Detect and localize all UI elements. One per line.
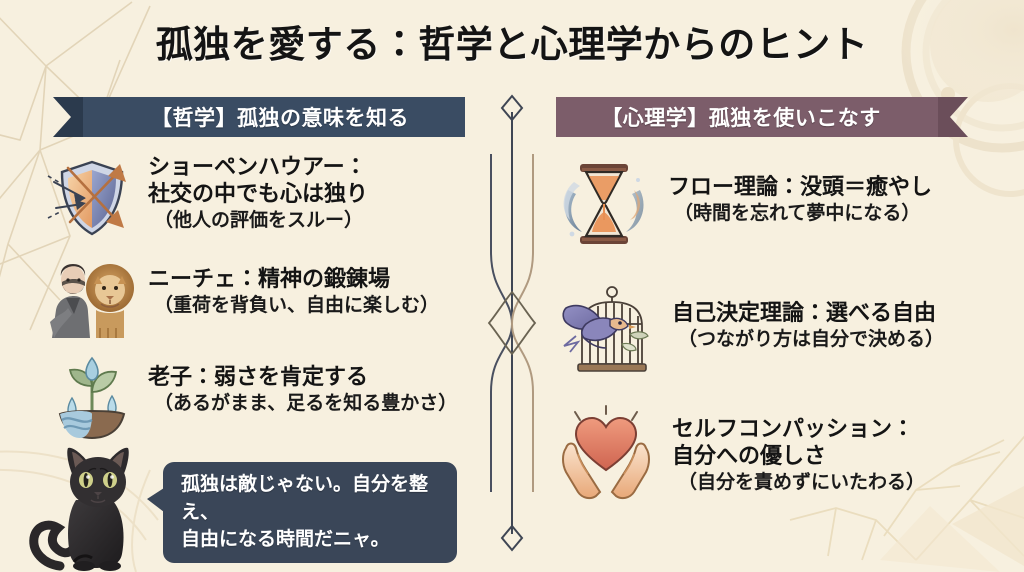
entry-subtext: （あるがまま、足るを知る豊かさ）	[148, 392, 457, 416]
sprout-water-icon	[46, 352, 138, 444]
list-item-laozi: 老子：弱さを肯定する （あるがまま、足るを知る豊かさ）	[46, 352, 476, 444]
entry-text-nietzsche: ニーチェ：精神の鍛錬場 （重荷を背負い、自由に楽しむ）	[148, 252, 439, 318]
entry-text-flow-theory: フロー理論：没頭＝癒やし （時間を忘れて夢中になる）	[668, 156, 932, 226]
banner-philosophy-label: 【哲学】孤独の意味を知る	[109, 102, 409, 132]
entry-heading: フロー理論：没頭＝癒やし	[668, 174, 932, 201]
ornate-vertical-divider-icon	[479, 92, 545, 554]
entry-text-schopenhauer: ショーペンハウアー： 社交の中でも心は独り （他人の評価をスルー）	[148, 152, 368, 232]
column-philosophy: ショーペンハウアー： 社交の中でも心は独り （他人の評価をスルー）	[46, 152, 476, 452]
banner-philosophy: 【哲学】孤独の意味を知る	[53, 97, 465, 137]
list-item-self-compassion: セルフコンパッション： 自分への優しさ （自分を責めずにいたわる）	[556, 404, 1006, 504]
hourglass-icon	[556, 156, 652, 252]
banner-psychology: 【心理学】孤独を使いこなす	[556, 97, 968, 137]
entry-subtext: （時間を忘れて夢中になる）	[668, 202, 932, 226]
cat-speech-bubble: 孤独は敵じゃない。自分を整え、 自由になる時間だニャ。	[163, 462, 457, 563]
entry-heading: ショーペンハウアー： 社交の中でも心は独り	[148, 154, 368, 208]
shield-arrows-icon	[46, 152, 138, 244]
black-cat-icon	[24, 438, 164, 572]
column-psychology: フロー理論：没頭＝癒やし （時間を忘れて夢中になる）	[556, 156, 1006, 530]
entry-heading: セルフコンパッション： 自分への優しさ	[672, 416, 925, 470]
heart-hands-icon	[556, 404, 656, 504]
page-title: 孤独を愛する：哲学と心理学からのヒント	[0, 14, 1024, 68]
entry-heading: 自己決定理論：選べる自由	[672, 300, 944, 327]
entry-heading: 老子：弱さを肯定する	[148, 364, 457, 391]
entry-subtext: （重荷を背負い、自由に楽しむ）	[148, 294, 439, 318]
entry-text-self-compassion: セルフコンパッション： 自分への優しさ （自分を責めずにいたわる）	[672, 404, 925, 494]
list-item-self-determination: 自己決定理論：選べる自由 （つながり方は自分で決める）	[556, 278, 1006, 378]
nietzsche-lion-icon	[46, 252, 138, 344]
list-item-nietzsche: ニーチェ：精神の鍛錬場 （重荷を背負い、自由に楽しむ）	[46, 252, 476, 344]
entry-heading: ニーチェ：精神の鍛錬場	[148, 266, 439, 293]
entry-subtext: （自分を責めずにいたわる）	[672, 471, 925, 495]
list-item-schopenhauer: ショーペンハウアー： 社交の中でも心は独り （他人の評価をスルー）	[46, 152, 476, 244]
banner-psychology-label: 【心理学】孤独を使いこなす	[601, 102, 923, 132]
entry-subtext: （他人の評価をスルー）	[148, 209, 368, 233]
bird-cage-icon	[556, 278, 656, 378]
entry-subtext: （つながり方は自分で決める）	[672, 328, 944, 352]
entry-text-self-determination: 自己決定理論：選べる自由 （つながり方は自分で決める）	[672, 278, 944, 352]
list-item-flow-theory: フロー理論：没頭＝癒やし （時間を忘れて夢中になる）	[556, 156, 1006, 252]
cat-speech-text: 孤独は敵じゃない。自分を整え、 自由になる時間だニャ。	[181, 471, 443, 554]
entry-text-laozi: 老子：弱さを肯定する （あるがまま、足るを知る豊かさ）	[148, 352, 457, 416]
